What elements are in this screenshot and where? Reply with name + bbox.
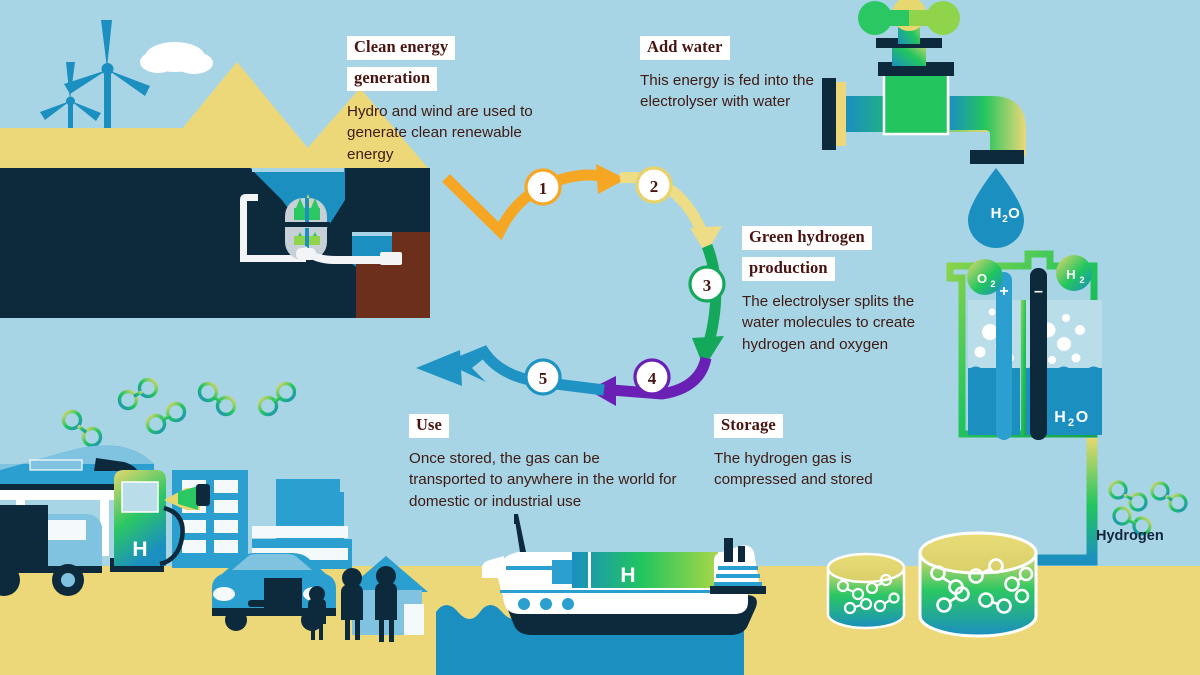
heading-clean-energy-line1: Clean energy — [347, 36, 455, 60]
cycle-arrows-layer: 1 2 3 4 5 — [0, 0, 1200, 675]
arrow-segment-3 — [692, 246, 724, 368]
heading-clean-energy-line2: generation — [347, 67, 437, 91]
arrow-segment-5 — [416, 350, 604, 390]
body-add-water: This energy is fed into the electrolyser… — [640, 70, 830, 113]
body-use: Once stored, the gas can be transported … — [409, 448, 679, 513]
step-number-5: 5 — [539, 369, 548, 388]
body-green-hydrogen: The electrolyser splits the water molecu… — [742, 291, 952, 356]
heading-green-hydrogen-line2: production — [742, 257, 835, 281]
step-number-2: 2 — [650, 177, 659, 196]
step-number-3: 3 — [703, 276, 712, 295]
step-number-1: 1 — [539, 179, 548, 198]
text-block-green-hydrogen: Green hydrogen production The electrolys… — [742, 226, 952, 355]
infographic-canvas: H 2 O — [0, 0, 1200, 675]
step-number-4: 4 — [648, 369, 657, 388]
step-circle-4[interactable]: 4 — [635, 360, 669, 394]
step-circle-2[interactable]: 2 — [637, 168, 671, 202]
text-block-add-water: Add water This energy is fed into the el… — [640, 36, 830, 113]
hydrogen-legend-label: Hydrogen — [1096, 528, 1164, 544]
heading-green-hydrogen-line1: Green hydrogen — [742, 226, 872, 250]
body-clean-energy: Hydro and wind are used to generate clea… — [347, 101, 557, 166]
body-storage: The hydrogen gas is compressed and store… — [714, 448, 874, 491]
step-circle-1[interactable]: 1 — [526, 170, 560, 204]
text-block-clean-energy: Clean energy generation Hydro and wind a… — [347, 36, 557, 165]
step-circle-3[interactable]: 3 — [690, 267, 724, 301]
heading-storage: Storage — [714, 414, 783, 438]
step-circle-5[interactable]: 5 — [526, 360, 560, 394]
text-block-use: Use Once stored, the gas can be transpor… — [409, 414, 679, 513]
heading-use: Use — [409, 414, 449, 438]
text-block-storage: Storage The hydrogen gas is compressed a… — [714, 414, 874, 491]
heading-add-water: Add water — [640, 36, 730, 60]
